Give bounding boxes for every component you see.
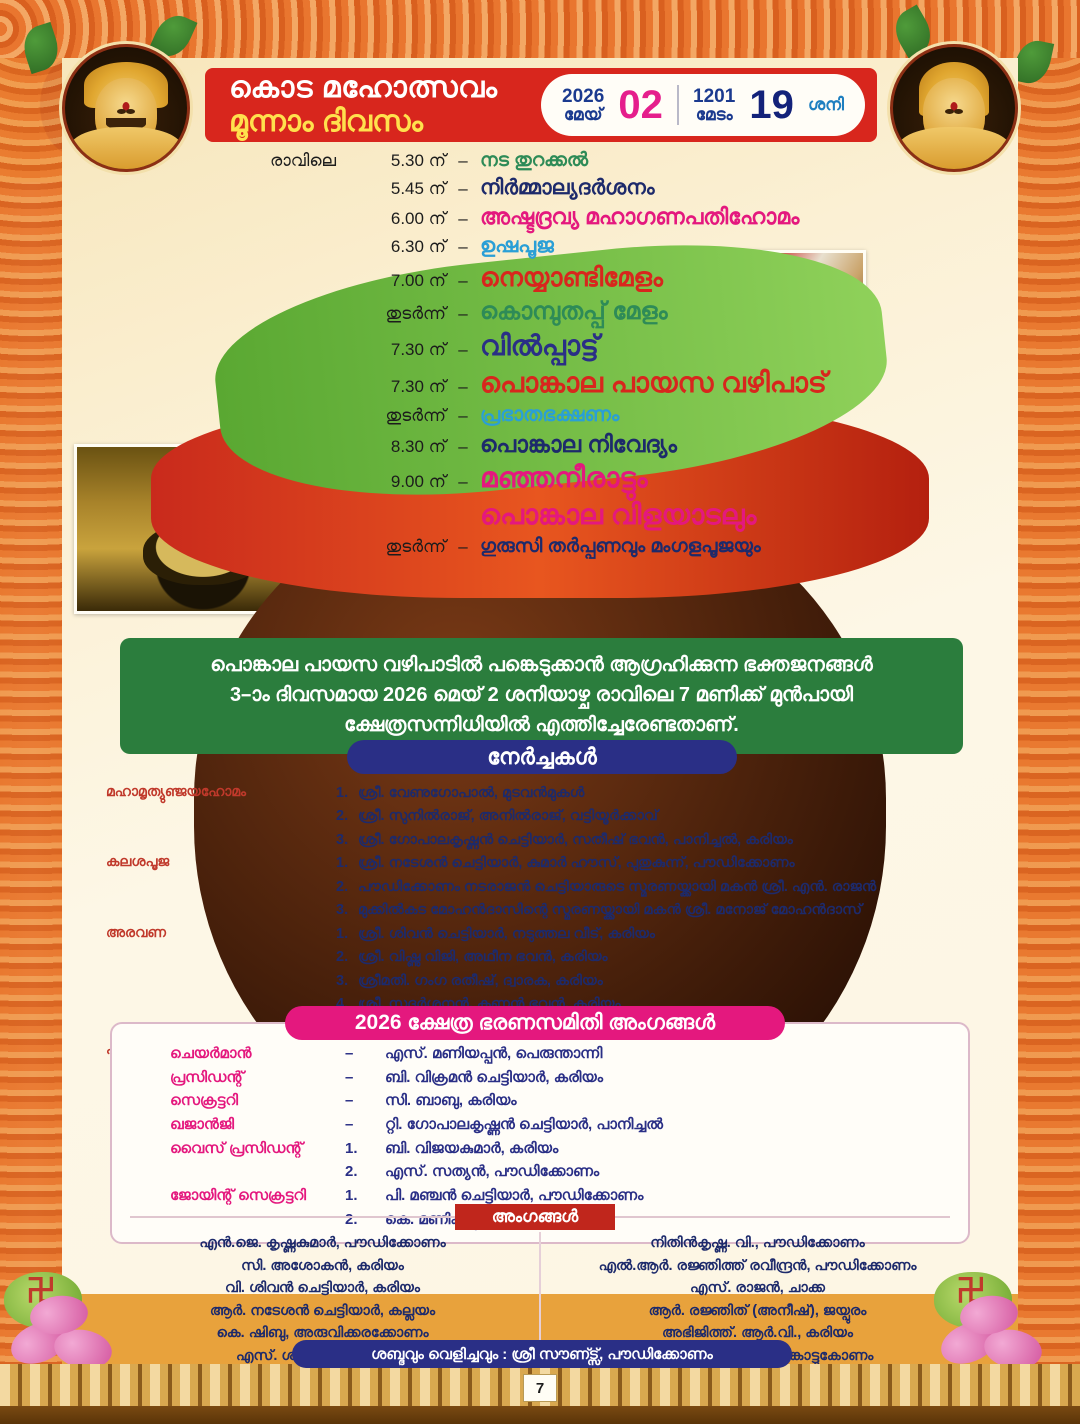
committee-row: സെക്രട്ടറി–സി. ബാബു, കരിയം xyxy=(170,1089,870,1113)
committee-index: – xyxy=(345,1042,385,1066)
schedule-dash: – xyxy=(446,472,480,492)
offerings-title: നേർച്ചകൾ xyxy=(347,740,737,774)
notice-line-1: പൊങ്കാല പായസ വഴിപാടിൽ പങ്കെടുക്കാൻ ആഗ്രഹ… xyxy=(130,650,953,680)
offering-item: 3.മുക്കിൽകട മോഹൻദാസിന്റെ സ്മരണയ്ക്കായി മ… xyxy=(336,899,986,922)
committee-role xyxy=(170,1160,345,1184)
schedule-event: പൊങ്കാല പായസ വഴിപാട് xyxy=(480,367,827,400)
deity-portrait-left xyxy=(62,44,190,172)
schedule-row: 9.00 ന്–മഞ്ഞനീരാട്ടും xyxy=(190,462,890,495)
members-title: അംഗങ്ങൾ xyxy=(455,1204,615,1230)
pongala-notice: പൊങ്കാല പായസ വഴിപാടിൽ പങ്കെടുക്കാൻ ആഗ്രഹ… xyxy=(120,638,963,754)
committee-role: ചെയർമാൻ xyxy=(170,1042,345,1066)
member-name: ആർ. രജ്ഞിത് (അനീഷ്), ജയ്പുരം xyxy=(565,1300,950,1323)
offering-donor: ശ്രീ. സുനിൽരാജ്, അനിൽരാജ്, വട്ടിയൂർക്കാവ… xyxy=(358,805,658,828)
schedule-time: 7.30 ന് xyxy=(350,340,446,360)
schedule-time: തുടർന്ന് xyxy=(350,304,446,324)
offering-index: 2. xyxy=(336,876,358,899)
offering-donor: ശ്രീ. വിഷ്ണു വിജി, അഥീന ഭവൻ, കരിയം xyxy=(358,946,608,969)
committee-name: റ്റി. ഗോപാലകൃഷ്ണൻ ചെട്ടിയാർ, പാനിച്ചൽ xyxy=(385,1113,663,1137)
garland-border-left xyxy=(0,0,62,1424)
committee-role: സെക്രട്ടറി xyxy=(170,1089,345,1113)
committee-name: സി. ബാബു, കരിയം xyxy=(385,1089,517,1113)
festival-title-line2: മൂന്നാം ദിവസം xyxy=(229,105,535,139)
festival-program-page: കൊട മഹോത്സവം മൂന്നാം ദിവസം 2026 മേയ് 02 … xyxy=(0,0,1080,1424)
offering-item: 2.ശ്രീ. വിഷ്ണു വിജി, അഥീന ഭവൻ, കരിയം xyxy=(336,946,986,969)
member-name: എൻ.ജെ. കൃഷ്ണകുമാർ, പൗഡിക്കോണം xyxy=(130,1232,515,1255)
schedule-time: 7.00 ന് xyxy=(350,271,446,291)
schedule-row: 5.45 ന്–നിർമ്മാല്യദർശനം xyxy=(190,176,890,200)
schedule-event: മഞ്ഞനീരാട്ടും xyxy=(480,462,647,495)
committee-row: ഖജാൻജി–റ്റി. ഗോപാലകൃഷ്ണൻ ചെട്ടിയാർ, പാനി… xyxy=(170,1113,870,1137)
schedule-event: ഉഷപൂജ xyxy=(480,234,554,258)
member-name: ആർ. നടേശൻ ചെട്ടിയാർ, കല്ലയം xyxy=(130,1300,515,1323)
offering-index: 2. xyxy=(336,805,358,828)
committee-index: 1. xyxy=(345,1137,385,1161)
offering-index: 1. xyxy=(336,782,358,805)
committee-index: 1. xyxy=(345,1184,385,1208)
schedule-event: നെയ്യാണ്ടിമേളം xyxy=(480,262,663,294)
schedule-row: തുടർന്ന്–ഗുരുസി തർപ്പണവും മംഗളപൂജയും xyxy=(190,536,890,558)
offering-item: 3.ശ്രീമതി. ഗംഗ രതീഷ്, ദ്വാരക, കരിയം xyxy=(336,970,986,993)
schedule-time: 5.30 ന് xyxy=(350,151,446,171)
schedule-event: ഗുരുസി തർപ്പണവും മംഗളപൂജയും xyxy=(480,536,761,558)
notice-line-2: 3–ാം ദിവസമായ 2026 മെയ് 2 ശനിയാഴ്ച രാവിലെ… xyxy=(130,680,953,710)
schedule-time: 9.00 ന് xyxy=(350,472,446,492)
offering-donor: ശ്രീ. നടേശൻ ചെട്ടിയാർ, കുമാർ ഹൗസ്, പുതുക… xyxy=(358,852,795,875)
schedule-dash: – xyxy=(446,537,480,557)
committee-row: 2.എസ്. സത്യൻ, പൗഡിക്കോണം xyxy=(170,1160,870,1184)
kollam-year: 1201 xyxy=(693,87,735,106)
offering-category: കലശപൂജ xyxy=(106,852,336,922)
offering-item: 3.ശ്രീ. ഗോപാലകൃഷ്ണൻ ചെട്ടിയാർ, സതീഷ് ഭവൻ… xyxy=(336,829,986,852)
schedule-event: കൊമ്പുതപ്പ് മേളം xyxy=(480,298,668,326)
footer-base-bar xyxy=(0,1406,1080,1424)
gregorian-date: 2026 മേയ് xyxy=(562,87,604,123)
committee-role: ജോയിന്റ് സെക്രട്ടറി xyxy=(170,1184,345,1208)
schedule-event: നിർമ്മാല്യദർശനം xyxy=(480,176,655,200)
member-name: നിതിൻകൃഷ്ണ. വി., പൗഡിക്കോണം xyxy=(565,1232,950,1255)
member-name: എൽ.ആർ. രജ്ഞിത്ത് രവീന്ദ്രൻ, പൗഡിക്കോണം xyxy=(565,1255,950,1278)
member-name: എസ്. രാജൻ, ചാക്ക xyxy=(565,1277,950,1300)
offering-donor: പൗഡിക്കോണം നടരാജൻ ചെട്ടിയാരുടെ സ്മരണയ്ക്… xyxy=(358,876,876,899)
schedule-event: അഷ്ടദ്രവ്യ മഹാഗണപതിഹോമം xyxy=(480,204,799,230)
schedule-time: 8.30 ന് xyxy=(350,437,446,457)
schedule-row: 7.30 ന്–പൊങ്കാല പായസ വഴിപാട് xyxy=(190,367,890,400)
offering-index: 3. xyxy=(336,829,358,852)
festival-title-line1: കൊട മഹോത്സവം xyxy=(229,71,535,105)
member-name: വി. ശിവൻ ചെട്ടിയാർ, കരിയം xyxy=(130,1277,515,1300)
committee-role: പ്രസിഡന്റ് xyxy=(170,1066,345,1090)
schedule-dash: – xyxy=(446,179,480,199)
schedule-row: പൊങ്കാല വിളയാടലും xyxy=(190,499,890,532)
schedule-time: തുടർന്ന് xyxy=(350,537,446,557)
committee-role xyxy=(170,1208,345,1232)
offering-items: 1.ശ്രീ. വേണുഗോപാൽ, മുടവൻമുകൾ2.ശ്രീ. സുനി… xyxy=(336,782,986,852)
lotus-decoration-left: 卍 xyxy=(0,1218,150,1368)
schedule-event: പൊങ്കാല നിവേദ്യം xyxy=(480,431,677,458)
committee-name: ബി. വിക്രമൻ ചെട്ടിയാർ, കരിയം xyxy=(385,1066,603,1090)
schedule-event: പൊങ്കാല വിളയാടലും xyxy=(480,499,756,532)
member-name: സി. അശോകൻ, കരിയം xyxy=(130,1255,515,1278)
committee-title: 2026 ക്ഷേത്ര ഭരണസമിതി അംഗങ്ങൾ xyxy=(285,1006,785,1040)
offering-item: 1.ശ്രീ. ശിവൻ ചെട്ടിയാർ, നടുത്തല വീട്, കര… xyxy=(336,923,986,946)
committee-index: 2. xyxy=(345,1160,385,1184)
committee-index: – xyxy=(345,1066,385,1090)
offering-index: 2. xyxy=(336,946,358,969)
committee-row: വൈസ് പ്രസിഡന്റ്1.ബി. വിജയകുമാർ, കരിയം xyxy=(170,1137,870,1161)
schedule-time: 5.45 ന് xyxy=(350,179,446,199)
schedule-time: 7.30 ന് xyxy=(350,377,446,397)
committee-role: വൈസ് പ്രസിഡന്റ് xyxy=(170,1137,345,1161)
schedule-dash: – xyxy=(446,406,480,426)
festival-title-banner: കൊട മഹോത്സവം മൂന്നാം ദിവസം 2026 മേയ് 02 … xyxy=(205,68,877,142)
offering-index: 1. xyxy=(336,852,358,875)
schedule-row: തുടർന്ന്–കൊമ്പുതപ്പ് മേളം xyxy=(190,298,890,326)
lotus-decoration-right: 卍 xyxy=(930,1218,1080,1368)
schedule-dash: – xyxy=(446,340,480,360)
committee-row: പ്രസിഡന്റ്–ബി. വിക്രമൻ ചെട്ടിയാർ, കരിയം xyxy=(170,1066,870,1090)
offering-items: 1.ശ്രീ. നടേശൻ ചെട്ടിയാർ, കുമാർ ഹൗസ്, പുത… xyxy=(336,852,986,922)
offering-donor: ശ്രീ. ശിവൻ ചെട്ടിയാർ, നടുത്തല വീട്, കരിയ… xyxy=(358,923,655,946)
schedule-row: 7.00 ന്–നെയ്യാണ്ടിമേളം xyxy=(190,262,890,294)
kollam-month: മേടം xyxy=(696,106,733,123)
offering-donor: ശ്രീ. ഗോപാലകൃഷ്ണൻ ചെട്ടിയാർ, സതീഷ് ഭവൻ, … xyxy=(358,829,793,852)
committee-row: ചെയർമാൻ–എസ്. മണിയപ്പൻ, പെരുന്താന്നി xyxy=(170,1042,870,1066)
schedule-dash: – xyxy=(446,271,480,291)
footer-credit: ശബ്ദവും വെളിച്ചവും : ശ്രീ സൗണ്ട്സ്, പൗഡി… xyxy=(292,1340,792,1368)
schedule-dash: – xyxy=(446,304,480,324)
schedule-dash: – xyxy=(446,209,480,229)
gregorian-day: 02 xyxy=(618,83,663,128)
schedule-row: രാവിലെ5.30 ന്–നട തുറക്കൽ xyxy=(190,150,890,172)
notice-line-3: ക്ഷേത്രസന്നിധിയിൽ എത്തിച്ചേരേണ്ടതാണ്. xyxy=(130,710,953,740)
offering-item: 1.ശ്രീ. നടേശൻ ചെട്ടിയാർ, കുമാർ ഹൗസ്, പുത… xyxy=(336,852,986,875)
gregorian-month: മേയ് xyxy=(564,106,603,123)
garland-border-right xyxy=(1018,0,1080,1424)
offering-donor: ശ്രീമതി. ഗംഗ രതീഷ്, ദ്വാരക, കരിയം xyxy=(358,970,603,993)
date-pill: 2026 മേയ് 02 1201 മേടം 19 ശനി xyxy=(541,74,865,136)
deity-portrait-right xyxy=(890,44,1018,172)
committee-name: ബി. വിജയകുമാർ, കരിയം xyxy=(385,1137,558,1161)
schedule-dash: – xyxy=(446,237,480,257)
schedule-list: രാവിലെ5.30 ന്–നട തുറക്കൽ5.45 ന്–നിർമ്മാല… xyxy=(190,150,890,562)
schedule-time: 6.00 ന് xyxy=(350,209,446,229)
schedule-row: 6.00 ന്–അഷ്ടദ്രവ്യ മഹാഗണപതിഹോമം xyxy=(190,204,890,230)
offering-index: 3. xyxy=(336,970,358,993)
schedule-period-label: രാവിലെ xyxy=(190,151,350,171)
committee-name: എസ്. മണിയപ്പൻ, പെരുന്താന്നി xyxy=(385,1042,602,1066)
weekday-label: ശനി xyxy=(808,95,844,115)
schedule-row: തുടർന്ന്–പ്രഭാതഭക്ഷണം xyxy=(190,404,890,427)
kollam-date: 1201 മേടം xyxy=(693,87,735,123)
committee-index: – xyxy=(345,1089,385,1113)
offering-item: 1.ശ്രീ. വേണുഗോപാൽ, മുടവൻമുകൾ xyxy=(336,782,986,805)
offering-item: 2.ശ്രീ. സുനിൽരാജ്, അനിൽരാജ്, വട്ടിയൂർക്ക… xyxy=(336,805,986,828)
gregorian-year: 2026 xyxy=(562,87,604,106)
offering-index: 3. xyxy=(336,899,358,922)
offering-donor: മുക്കിൽകട മോഹൻദാസിന്റെ സ്മരണയ്ക്കായി മകൻ… xyxy=(358,899,862,922)
offering-item: 2.പൗഡിക്കോണം നടരാജൻ ചെട്ടിയാരുടെ സ്മരണയ്… xyxy=(336,876,986,899)
offering-donor: ശ്രീ. വേണുഗോപാൽ, മുടവൻമുകൾ xyxy=(358,782,584,805)
committee-index: 2. xyxy=(345,1208,385,1232)
offering-category: മഹാമൃത്യുഞ്ജയഹോമം xyxy=(106,782,336,852)
kollam-day: 19 xyxy=(749,83,794,128)
schedule-event: നട തുറക്കൽ xyxy=(480,150,588,172)
offering-index: 1. xyxy=(336,923,358,946)
schedule-dash: – xyxy=(446,437,480,457)
offering-group: മഹാമൃത്യുഞ്ജയഹോമം1.ശ്രീ. വേണുഗോപാൽ, മുടവ… xyxy=(106,782,986,852)
schedule-event: വിൽപ്പാട്ട് xyxy=(480,330,599,363)
page-number: 7 xyxy=(523,1374,557,1402)
schedule-time: 6.30 ന് xyxy=(350,237,446,257)
committee-role: ഖജാൻജി xyxy=(170,1113,345,1137)
schedule-row: 8.30 ന്–പൊങ്കാല നിവേദ്യം xyxy=(190,431,890,458)
schedule-event: പ്രഭാതഭക്ഷണം xyxy=(480,404,619,427)
schedule-row: 6.30 ന്–ഉഷപൂജ xyxy=(190,234,890,258)
date-divider xyxy=(677,85,679,125)
schedule-time: തുടർന്ന് xyxy=(350,406,446,426)
offering-group: കലശപൂജ1.ശ്രീ. നടേശൻ ചെട്ടിയാർ, കുമാർ ഹൗസ… xyxy=(106,852,986,922)
schedule-dash: – xyxy=(446,151,480,171)
committee-name: എസ്. സത്യൻ, പൗഡിക്കോണം xyxy=(385,1160,599,1184)
schedule-dash: – xyxy=(446,377,480,397)
festival-title: കൊട മഹോത്സവം മൂന്നാം ദിവസം xyxy=(205,71,535,138)
committee-index: – xyxy=(345,1113,385,1137)
schedule-row: 7.30 ന്–വിൽപ്പാട്ട് xyxy=(190,330,890,363)
